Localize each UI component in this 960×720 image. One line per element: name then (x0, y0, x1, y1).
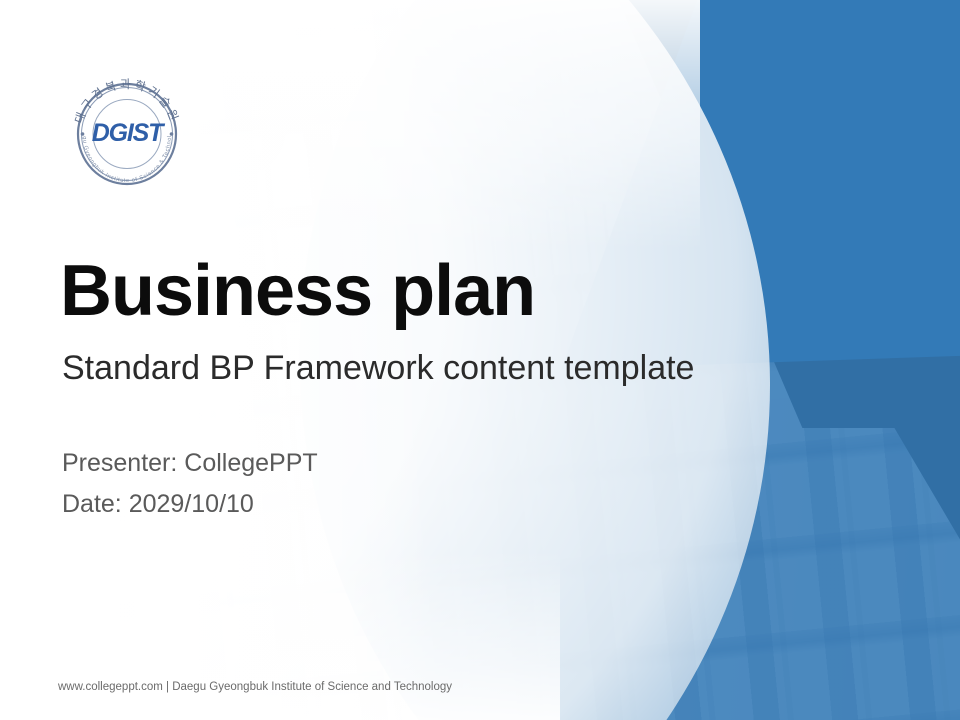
svg-text:DGIST: DGIST (92, 119, 166, 147)
date-line: Date: 2029/10/10 (62, 484, 318, 525)
presenter-line: Presenter: CollegePPT (62, 443, 318, 484)
slide-meta-block: Presenter: CollegePPT Date: 2029/10/10 (62, 443, 318, 524)
dgist-seal-logo: 대구경북과학기술원 Daegu Gyeongbuk Institute of S… (68, 76, 186, 188)
slide-footer: www.collegeppt.com | Daegu Gyeongbuk Ins… (58, 678, 478, 698)
presentation-slide: DGIST 대구경북과학기술원 D (0, 0, 960, 720)
slide-title: Business plan (60, 255, 535, 327)
slide-subtitle: Standard BP Framework content template (62, 350, 694, 387)
